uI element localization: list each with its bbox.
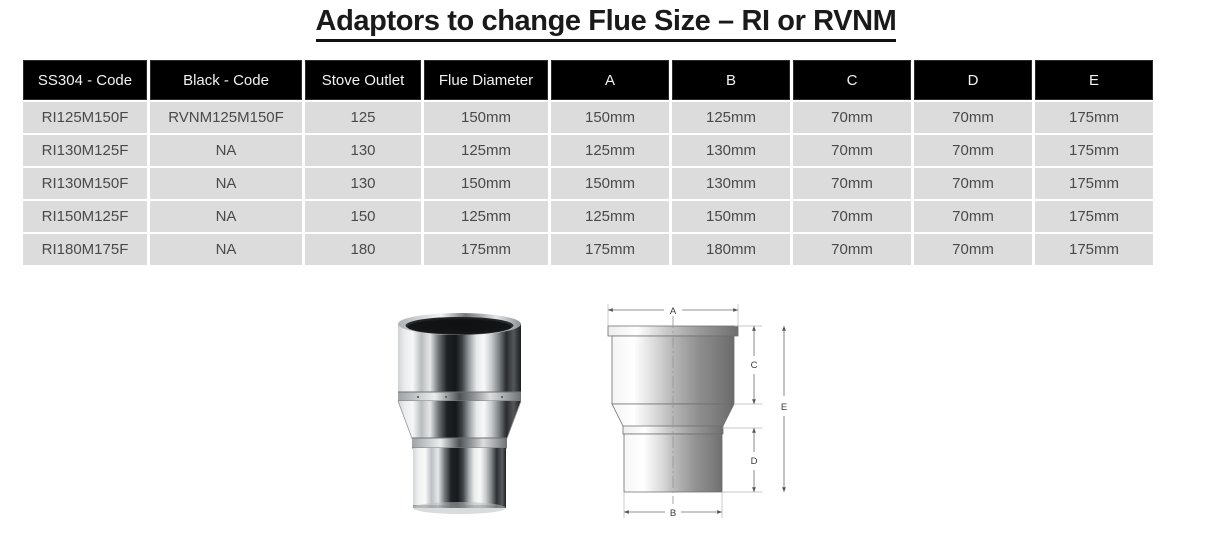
cell-ss304-code: RI130M150F [23, 168, 147, 199]
column-header-c: C [793, 60, 911, 100]
column-header-b: B [672, 60, 790, 100]
cell-e: 175mm [1035, 201, 1153, 232]
table-row: RI180M175F NA 180 175mm 175mm 180mm 70mm… [23, 234, 1153, 265]
page-title: Adaptors to change Flue Size – RI or RVN… [316, 4, 897, 42]
cell-flue-diameter: 150mm [424, 168, 548, 199]
cell-ss304-code: RI180M175F [23, 234, 147, 265]
cell-e: 175mm [1035, 102, 1153, 133]
cell-ss304-code: RI125M150F [23, 102, 147, 133]
cell-c: 70mm [793, 201, 911, 232]
cell-ss304-code: RI130M125F [23, 135, 147, 166]
cell-a: 150mm [551, 168, 669, 199]
cell-black-code: NA [150, 201, 302, 232]
cell-black-code: NA [150, 135, 302, 166]
column-header-stove-outlet: Stove Outlet [305, 60, 421, 100]
adaptor-spec-table: SS304 - Code Black - Code Stove Outlet F… [20, 58, 1156, 267]
stainless-steel-flue-adaptor-photo [372, 302, 547, 520]
figures-container: A B C D E [0, 288, 1212, 538]
dimension-label-b: B [670, 508, 676, 519]
cell-black-code: RVNM125M150F [150, 102, 302, 133]
cell-flue-diameter: 175mm [424, 234, 548, 265]
cell-a: 175mm [551, 234, 669, 265]
cell-e: 175mm [1035, 168, 1153, 199]
cell-b: 130mm [672, 135, 790, 166]
cell-e: 175mm [1035, 135, 1153, 166]
cell-stove-outlet: 180 [305, 234, 421, 265]
table-row: RI130M150F NA 130 150mm 150mm 130mm 70mm… [23, 168, 1153, 199]
cell-stove-outlet: 130 [305, 168, 421, 199]
cell-d: 70mm [914, 102, 1032, 133]
cell-d: 70mm [914, 135, 1032, 166]
page-title-container: Adaptors to change Flue Size – RI or RVN… [0, 4, 1212, 42]
cell-a: 125mm [551, 201, 669, 232]
cell-stove-outlet: 125 [305, 102, 421, 133]
cell-d: 70mm [914, 201, 1032, 232]
cell-black-code: NA [150, 234, 302, 265]
cell-black-code: NA [150, 168, 302, 199]
cell-c: 70mm [793, 102, 911, 133]
column-header-e: E [1035, 60, 1153, 100]
table-header-row: SS304 - Code Black - Code Stove Outlet F… [23, 60, 1153, 100]
cell-flue-diameter: 125mm [424, 135, 548, 166]
cell-c: 70mm [793, 168, 911, 199]
cell-ss304-code: RI150M125F [23, 201, 147, 232]
cell-b: 125mm [672, 102, 790, 133]
table-row: RI130M125F NA 130 125mm 125mm 130mm 70mm… [23, 135, 1153, 166]
cell-b: 130mm [672, 168, 790, 199]
cell-e: 175mm [1035, 234, 1153, 265]
cell-flue-diameter: 125mm [424, 201, 548, 232]
cell-d: 70mm [914, 234, 1032, 265]
cell-stove-outlet: 130 [305, 135, 421, 166]
dimension-label-c: C [751, 360, 758, 371]
cell-stove-outlet: 150 [305, 201, 421, 232]
cell-a: 150mm [551, 102, 669, 133]
dimension-label-a: A [670, 306, 677, 317]
table-row: RI150M125F NA 150 125mm 125mm 150mm 70mm… [23, 201, 1153, 232]
column-header-flue-diameter: Flue Diameter [424, 60, 548, 100]
cell-c: 70mm [793, 135, 911, 166]
column-header-ss304-code: SS304 - Code [23, 60, 147, 100]
column-header-d: D [914, 60, 1032, 100]
table-row: RI125M150F RVNM125M150F 125 150mm 150mm … [23, 102, 1153, 133]
column-header-black-code: Black - Code [150, 60, 302, 100]
cell-flue-diameter: 150mm [424, 102, 548, 133]
cell-b: 150mm [672, 201, 790, 232]
cell-a: 125mm [551, 135, 669, 166]
cell-d: 70mm [914, 168, 1032, 199]
cell-b: 180mm [672, 234, 790, 265]
dimension-label-e: E [781, 402, 787, 413]
cell-c: 70mm [793, 234, 911, 265]
flue-adaptor-dimension-drawing: A B C D E [586, 296, 811, 526]
dimension-label-d: D [751, 456, 758, 467]
column-header-a: A [551, 60, 669, 100]
